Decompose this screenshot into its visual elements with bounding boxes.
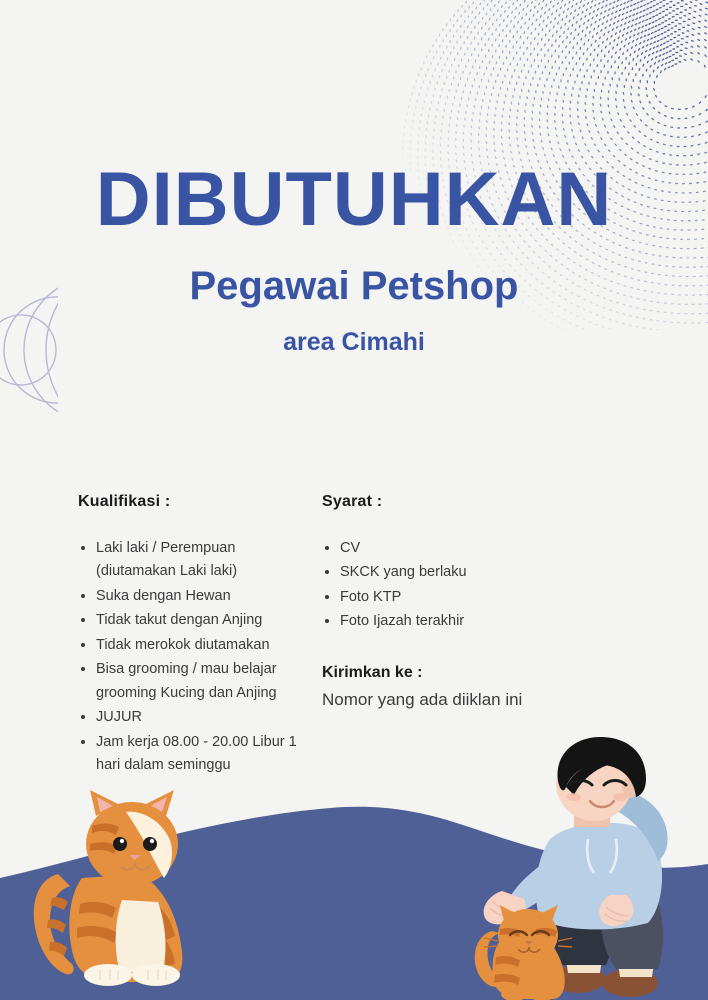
job-area: area Cimahi (0, 328, 708, 357)
list-item: CV (322, 537, 640, 560)
requirements-title: Syarat : (322, 493, 640, 511)
list-item: Foto Ijazah terakhir (322, 610, 640, 633)
list-item: Suka dengan Hewan (78, 585, 310, 608)
list-item: Foto KTP (322, 586, 640, 609)
list-item: Bisa grooming / mau belajar grooming Kuc… (78, 658, 310, 705)
job-title: Pegawai Petshop (0, 264, 708, 308)
page-title: DIBUTUHKAN (0, 160, 708, 240)
list-item: Laki laki / Perempuan (diutamakan Laki l… (78, 537, 310, 584)
orange-tabby-cat-icon (22, 782, 212, 992)
person-petting-cat-icon (470, 735, 700, 1000)
contact-value: Nomor yang ada diiklan ini (322, 689, 640, 711)
qualifications-list: Laki laki / Perempuan (diutamakan Laki l… (78, 537, 310, 778)
poster-canvas: DIBUTUHKAN Pegawai Petshop area Cimahi K… (0, 0, 708, 1000)
requirements-list: CV SKCK yang berlaku Foto KTP Foto Ijaza… (322, 537, 640, 634)
list-item: Tidak takut dengan Anjing (78, 609, 310, 632)
qualifications-title: Kualifikasi : (78, 493, 310, 511)
list-item: SKCK yang berlaku (322, 561, 640, 584)
list-item: Jam kerja 08.00 - 20.00 Libur 1 hari dal… (78, 731, 310, 778)
list-item: Tidak merokok diutamakan (78, 634, 310, 657)
qualifications-section: Kualifikasi : Laki laki / Perempuan (diu… (0, 493, 310, 779)
headline-block: DIBUTUHKAN Pegawai Petshop area Cimahi (0, 160, 708, 357)
requirements-section: Syarat : CV SKCK yang berlaku Foto KTP F… (310, 493, 640, 711)
contact-title: Kirimkan ke : (322, 664, 640, 682)
list-item: JUJUR (78, 706, 310, 729)
